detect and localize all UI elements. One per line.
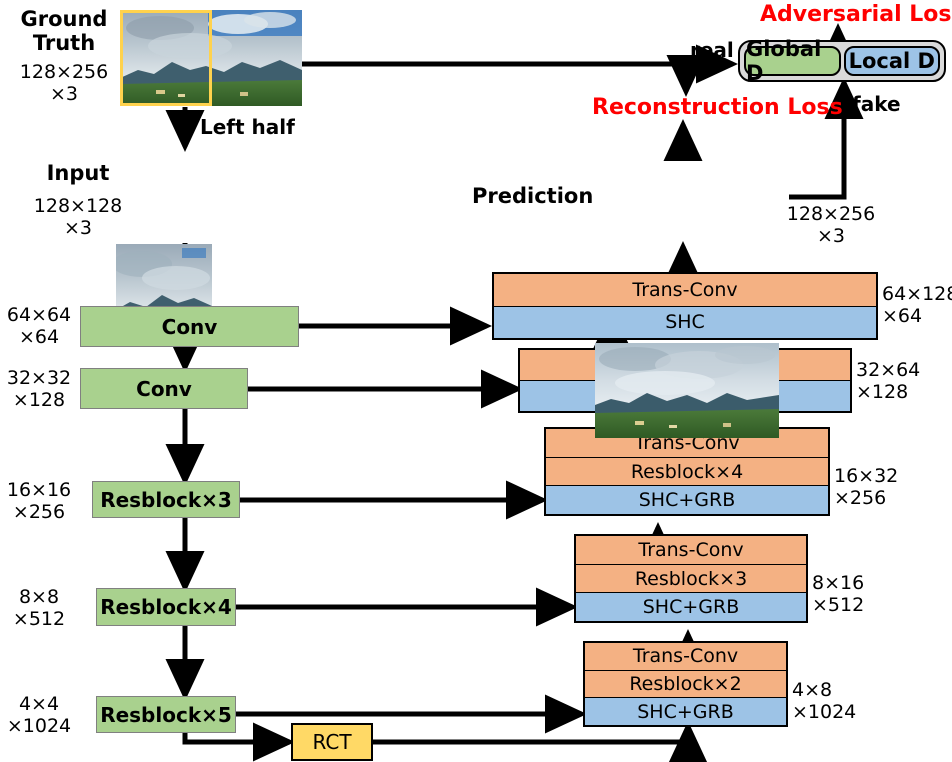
encoder-dims-4: 4×4 ×1024 bbox=[0, 694, 78, 738]
decoder-block-4[interactable]: Trans-Conv Resblock×3 SHC+GRB bbox=[574, 534, 808, 623]
encoder-block-resblock-5[interactable]: Resblock×5 bbox=[96, 696, 236, 733]
input-label: Input bbox=[30, 162, 126, 186]
encoder-dims-0: 64×64 ×64 bbox=[0, 305, 78, 349]
global-discriminator[interactable]: Global D bbox=[744, 46, 841, 76]
discriminator-container: Global D Local D bbox=[738, 40, 946, 82]
encoder-dims-1: 32×32 ×128 bbox=[0, 368, 78, 412]
encoder-block-conv-1[interactable]: Conv bbox=[80, 306, 299, 347]
decoder-1-row-0[interactable]: Trans-Conv bbox=[494, 274, 876, 307]
diagram-canvas: Ground Truth 128×256 ×3 bbox=[0, 0, 952, 762]
decoder-3-row-2[interactable]: SHC+GRB bbox=[546, 486, 828, 514]
decoder-4-row-2[interactable]: SHC+GRB bbox=[576, 593, 806, 621]
decoder-1-row-1[interactable]: SHC bbox=[494, 307, 876, 339]
real-edge-label: real bbox=[690, 38, 734, 62]
encoder-block-conv-2[interactable]: Conv bbox=[80, 368, 248, 409]
decoder-4-row-0[interactable]: Trans-Conv bbox=[576, 536, 806, 565]
input-dims: 128×128 ×3 bbox=[18, 196, 138, 240]
encoder-dims-3: 8×8 ×512 bbox=[0, 587, 78, 631]
decoder-block-3[interactable]: Trans-Conv Resblock×4 SHC+GRB bbox=[544, 427, 830, 516]
ground-truth-image bbox=[120, 10, 302, 106]
fake-edge-label: fake bbox=[852, 92, 901, 116]
decoder-dims-1: 32×64 ×128 bbox=[856, 360, 926, 404]
reconstruction-loss-label: Reconstruction Loss bbox=[592, 95, 843, 120]
left-half-selection bbox=[120, 10, 212, 106]
left-half-note: Left half bbox=[200, 115, 295, 139]
decoder-dims-4: 4×8 ×1024 bbox=[792, 680, 866, 724]
prediction-dims: 128×256 ×3 bbox=[786, 204, 876, 248]
decoder-dims-3: 8×16 ×512 bbox=[812, 573, 882, 617]
encoder-block-resblock-4[interactable]: Resblock×4 bbox=[96, 588, 236, 626]
adversarial-loss-label: Adversarial Loss bbox=[760, 2, 952, 27]
decoder-5-row-1[interactable]: Resblock×2 bbox=[585, 671, 786, 699]
decoder-dims-0: 64×128 ×64 bbox=[882, 284, 952, 328]
decoder-block-5[interactable]: Trans-Conv Resblock×2 SHC+GRB bbox=[583, 641, 788, 727]
decoder-block-1[interactable]: Trans-Conv SHC bbox=[492, 272, 878, 340]
ground-truth-label: Ground Truth bbox=[14, 8, 114, 55]
encoder-dims-2: 16×16 ×256 bbox=[0, 480, 78, 524]
decoder-4-row-1[interactable]: Resblock×3 bbox=[576, 565, 806, 594]
rct-block[interactable]: RCT bbox=[291, 723, 373, 761]
decoder-5-row-2[interactable]: SHC+GRB bbox=[585, 698, 786, 725]
prediction-image bbox=[595, 343, 779, 438]
ground-truth-dims: 128×256 ×3 bbox=[8, 62, 120, 106]
decoder-3-row-1[interactable]: Resblock×4 bbox=[546, 458, 828, 487]
decoder-dims-2: 16×32 ×256 bbox=[834, 466, 904, 510]
decoder-5-row-0[interactable]: Trans-Conv bbox=[585, 643, 786, 671]
local-discriminator[interactable]: Local D bbox=[844, 46, 941, 76]
encoder-block-resblock-3[interactable]: Resblock×3 bbox=[92, 481, 240, 518]
prediction-label: Prediction bbox=[472, 185, 592, 209]
